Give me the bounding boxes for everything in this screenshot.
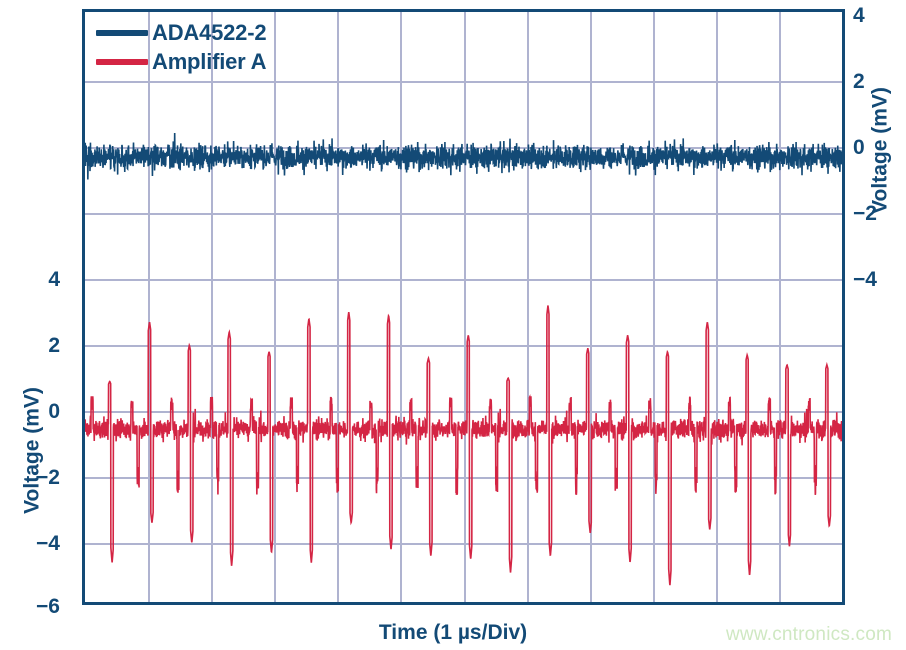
y-right-tick-neg4: −4 [853,269,877,290]
y-axis-left-title: Voltage (mV) [22,371,43,531]
trace-ada4522-2 [85,133,842,179]
site-watermark: www.cntronics.com [726,624,892,646]
y-left-tick-4: 4 [0,269,72,290]
y-right-tick-2: 2 [853,71,865,92]
legend-swatch-ada4522-2 [96,30,148,36]
legend-label-ada4522-2: ADA4522-2 [152,22,266,44]
legend: ADA4522-2 Amplifier A [96,18,266,76]
y-left-tick-neg4: −4 [0,533,72,554]
legend-item-amplifier-a: Amplifier A [96,47,266,76]
noise-comparison-chart: ADA4522-2 Amplifier A 4 2 0 −2 −4 −6 4 2… [0,0,906,650]
y-axis-right-title: Voltage (mV) [870,71,891,231]
y-left-tick-neg6: −6 [0,596,72,617]
y-right-tick-0: 0 [853,137,865,158]
signal-traces [85,12,842,602]
legend-label-amplifier-a: Amplifier A [152,51,266,73]
plot-inner [85,12,842,602]
y-left-tick-2: 2 [0,335,72,356]
legend-item-ada4522-2: ADA4522-2 [96,18,266,47]
trace-amplifier-a [85,306,842,586]
legend-swatch-amplifier-a [96,59,148,65]
y-right-tick-4: 4 [853,5,865,26]
y-axis-left-ticks: 4 2 0 −2 −4 −6 [0,0,72,650]
plot-area [82,9,845,605]
